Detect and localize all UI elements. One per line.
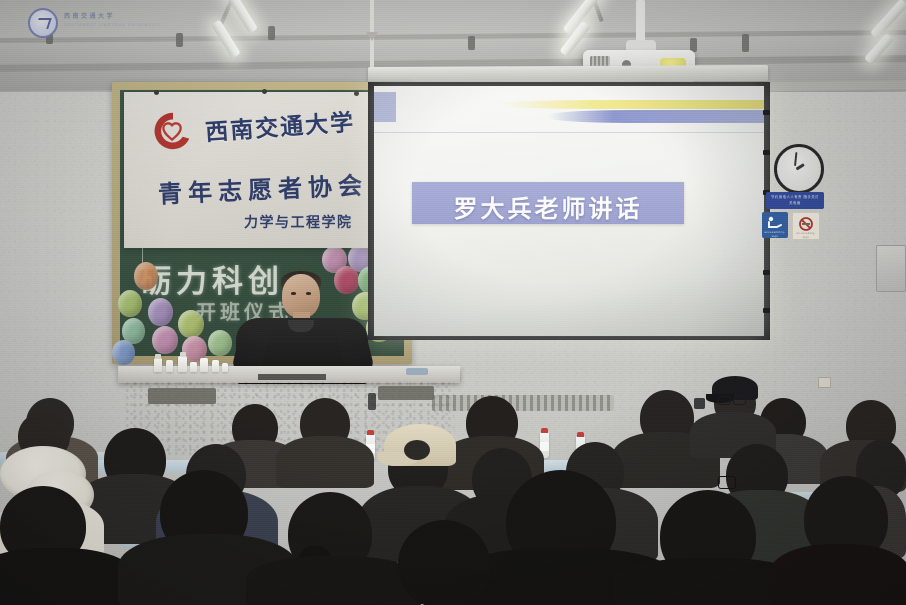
speaker-eye: [291, 292, 296, 295]
ceiling-hook: [176, 33, 183, 47]
bottle: [212, 360, 219, 372]
balloon: [148, 298, 173, 326]
water-bottle-cap: [577, 432, 584, 437]
screen-clip: [763, 270, 770, 275]
blackboard-chalk-line-1: 砺力科创: [140, 256, 284, 301]
screen-glare: [374, 86, 764, 336]
screen-roller-housing: [368, 65, 768, 83]
lab-bench-slot: [258, 374, 326, 380]
accessibility-sign-caption: accessibility-sign: [762, 230, 788, 238]
screen-clip: [763, 308, 770, 313]
bottle: [190, 362, 197, 372]
banner-tack: [262, 89, 267, 94]
bottle: [178, 356, 187, 372]
water-bottle-label: [540, 442, 549, 451]
accessibility-icon: [765, 215, 785, 231]
audience-shoulders-foreground: [246, 556, 422, 605]
balloon: [112, 340, 135, 365]
bottle-cap: [155, 354, 161, 359]
energy-saving-sign: 节约用电人人有责 随手关灯关电扇: [766, 192, 824, 209]
wall-junction-box: [694, 398, 705, 409]
bottle-cap: [180, 352, 186, 357]
banner-tack: [154, 90, 159, 95]
projector-mount-pole: [636, 0, 645, 44]
no-smoking-icon: [796, 216, 816, 232]
lab-bench-panel: [148, 388, 216, 404]
wall-outlet: [818, 377, 831, 388]
classroom-photo-scene: 砺力科创 开班仪式 西南交通大学 青年志愿者协会 力学与工程学院 西南交通大学 …: [0, 0, 906, 605]
phone-on-bench: [406, 368, 428, 375]
eyeglasses: [733, 396, 746, 405]
screen-clip: [763, 150, 770, 155]
lab-bench-panel: [378, 386, 434, 400]
banner-tack: [354, 91, 359, 96]
ceiling-hook: [268, 26, 275, 40]
no-smoking-sign-caption: no-smoking-sign: [793, 231, 819, 239]
energy-saving-sign-text: 节约用电人人有责 随手关灯关电扇: [769, 194, 821, 206]
speaker-eye: [306, 292, 311, 295]
cap-button-panel: [404, 440, 430, 460]
no-smoking-sign: no-smoking-sign: [792, 212, 820, 240]
ceiling-hook: [742, 34, 749, 52]
audience-shoulders-foreground: [0, 548, 134, 605]
wall-clock: [774, 144, 824, 194]
heart-hands-volunteer-logo: [150, 108, 196, 154]
bottle: [166, 360, 173, 372]
balloon: [208, 330, 232, 356]
screen-clip: [763, 110, 770, 115]
wall-vent-grille: [432, 395, 614, 411]
bottle: [200, 358, 208, 372]
eyeglasses: [718, 396, 731, 405]
bottle: [154, 358, 162, 372]
university-seal-icon: [28, 8, 58, 38]
balloon: [134, 262, 158, 290]
balloon: [118, 290, 142, 317]
audience-head-foreground: [398, 520, 490, 605]
wall-control-panel[interactable]: [876, 245, 906, 292]
eyeglasses: [718, 476, 736, 489]
balloon: [152, 326, 178, 354]
accessibility-sign: accessibility-sign: [762, 212, 788, 238]
banner-school-name: 力学与工程学院: [244, 212, 353, 232]
water-bottle-cap: [367, 430, 374, 435]
balloon: [334, 266, 359, 294]
water-bottle-cap: [541, 428, 548, 433]
audience-shoulders-foreground: [770, 544, 906, 605]
slide-org-name: 西南交通大学: [64, 11, 115, 20]
ceiling-hook: [468, 36, 475, 50]
slide-org-name-en: SOUTHWEST JIAOTONG UNIVERSITY: [64, 23, 161, 27]
bottle: [222, 363, 228, 372]
audience-shoulders: [276, 436, 374, 488]
balloon: [178, 310, 204, 338]
